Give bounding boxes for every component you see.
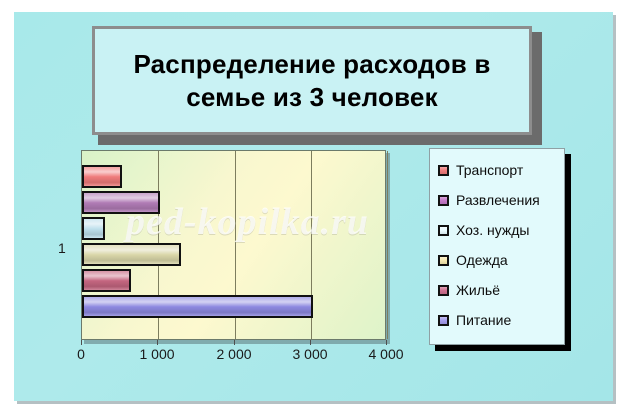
x-axis-tick (234, 340, 235, 345)
y-axis-category-label: 1 (58, 240, 66, 256)
bar-одежда (82, 243, 181, 266)
legend-item[interactable]: Жильё (438, 275, 564, 305)
x-axis-label: 0 (77, 346, 85, 362)
x-axis-label: 1 000 (139, 346, 174, 362)
legend-label: Жильё (456, 282, 500, 298)
legend-label: Транспорт (456, 162, 523, 178)
bar-chart: 1 01 0002 0003 0004 000 (54, 143, 414, 368)
presentation-slide: Распределение расходов в семье из 3 чело… (14, 12, 613, 401)
x-axis-label: 4 000 (368, 346, 403, 362)
legend-item[interactable]: Хоз. нужды (438, 215, 564, 245)
x-axis-tick (386, 340, 387, 345)
legend-label: Хоз. нужды (456, 222, 530, 238)
legend-swatch-icon (438, 255, 449, 266)
x-axis-label: 2 000 (216, 346, 251, 362)
page-title: Распределение расходов в семье из 3 чело… (95, 48, 529, 113)
x-axis-tick (81, 340, 82, 345)
x-axis-tick (157, 340, 158, 345)
title-box: Распределение расходов в семье из 3 чело… (92, 26, 532, 135)
legend-label: Питание (456, 312, 511, 328)
legend-swatch-icon (438, 285, 449, 296)
bar-питание (82, 295, 313, 318)
legend-item[interactable]: Развлечения (438, 185, 564, 215)
chart-legend: ТранспортРазвлеченияХоз. нуждыОдеждаЖиль… (429, 148, 565, 345)
bar-хоз-нужды (82, 217, 105, 240)
legend-item[interactable]: Одежда (438, 245, 564, 275)
bar-жильё (82, 269, 131, 292)
gridline (387, 151, 388, 339)
legend-item[interactable]: Питание (438, 305, 564, 335)
legend-swatch-icon (438, 225, 449, 236)
legend-label: Одежда (456, 252, 508, 268)
legend-label: Развлечения (456, 192, 540, 208)
legend-swatch-icon (438, 195, 449, 206)
x-axis-label: 3 000 (292, 346, 327, 362)
x-axis-tick (310, 340, 311, 345)
bar-транспорт (82, 165, 122, 188)
legend-swatch-icon (438, 165, 449, 176)
legend-item[interactable]: Транспорт (438, 155, 564, 185)
legend-swatch-icon (438, 315, 449, 326)
plot-area (81, 150, 386, 340)
bar-развлечения (82, 191, 160, 214)
